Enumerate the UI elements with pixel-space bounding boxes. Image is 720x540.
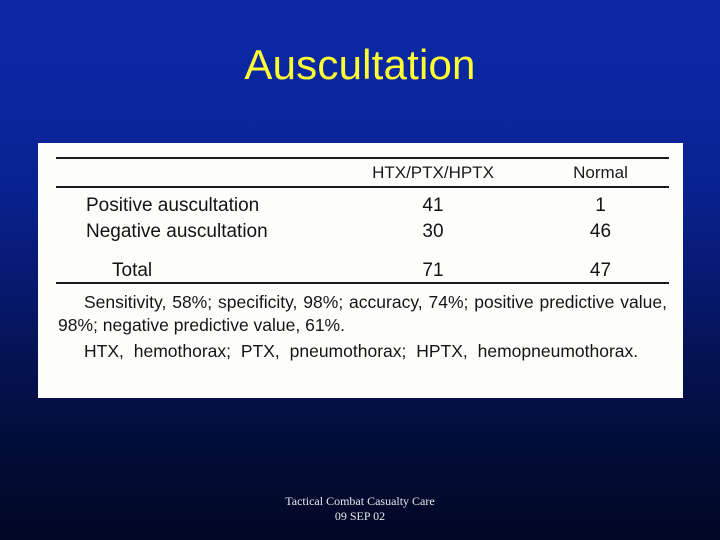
footnote-abbreviations: HTX, hemothorax; PTX, pneumothorax; HPTX… [58,340,667,363]
table-row: Negative auscultation 30 46 [38,219,683,245]
table-header-row: HTX/PTX/HPTX Normal [38,161,683,185]
row-value-negative-normal: 46 [518,221,683,243]
row-value-positive-htx: 41 [348,195,518,217]
table-rule-bottom [56,282,669,284]
table-footnotes: Sensitivity, 58%; specificity, 98%; accu… [58,291,667,366]
table-panel: HTX/PTX/HPTX Normal Positive auscultatio… [38,143,683,398]
row-label-total: Total [38,260,348,282]
table-row: Positive auscultation 41 1 [38,193,683,219]
row-value-total-htx: 71 [348,260,518,282]
table-rule-header [56,186,669,188]
slide-footer: Tactical Combat Casualty Care 09 SEP 02 [0,494,720,524]
footer-line-course: Tactical Combat Casualty Care [0,494,720,509]
table-header-normal: Normal [518,163,683,183]
row-value-negative-htx: 30 [348,221,518,243]
row-value-positive-normal: 1 [518,195,683,217]
table-body: Positive auscultation 41 1 Negative ausc… [38,193,683,284]
row-label-positive: Positive auscultation [38,195,348,217]
row-value-total-normal: 47 [518,260,683,282]
slide-canvas: Auscultation HTX/PTX/HPTX Normal Positiv… [0,0,720,540]
table-row-total: Total 71 47 [38,258,683,284]
table-rule-top [56,157,669,159]
page-title: Auscultation [0,40,720,90]
table-header-htx: HTX/PTX/HPTX [348,163,518,183]
footer-line-date: 09 SEP 02 [0,509,720,524]
footnote-statistics: Sensitivity, 58%; specificity, 98%; accu… [58,291,667,337]
row-label-negative: Negative auscultation [38,221,348,243]
